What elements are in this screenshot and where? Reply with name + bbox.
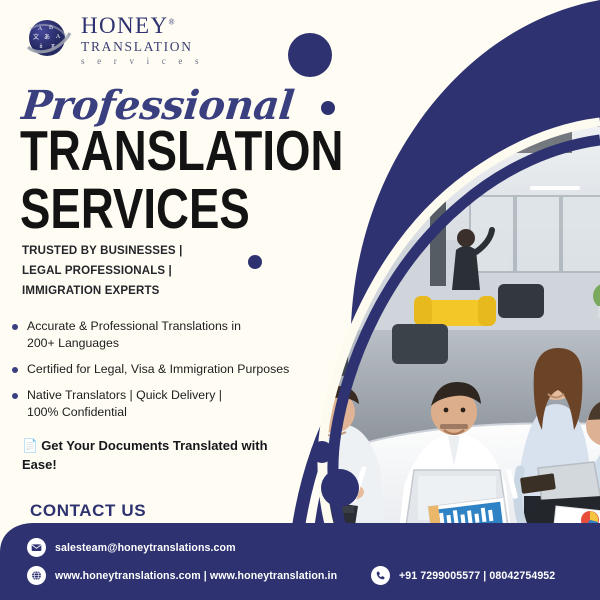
brand-logo[interactable]: A B 文 あ A ñ ह HONEY® TRANSLATION s e r v…: [26, 14, 204, 66]
laptop-center: [406, 470, 508, 526]
deco-circle-cta-a: [311, 441, 333, 463]
envelope-icon: [27, 538, 46, 557]
bullet-text: Accurate & Professional Translations in2…: [27, 318, 241, 352]
svg-text:ñ: ñ: [40, 44, 43, 50]
cta-text: 📄Get Your Documents Translated with Ease…: [22, 437, 302, 475]
bullet-dot: [12, 324, 18, 330]
globe-icon: [27, 566, 46, 585]
headline-line-1: TRANSLATION: [20, 125, 343, 177]
bullet-dot: [12, 393, 18, 399]
svg-text:A: A: [56, 34, 61, 40]
laptop-right: [534, 462, 600, 524]
list-item: Accurate & Professional Translations in2…: [12, 318, 312, 352]
person-standing-woman: [516, 348, 594, 542]
registered-mark: ®: [169, 17, 175, 26]
person-right: [584, 400, 600, 540]
svg-text:文: 文: [33, 33, 39, 41]
footer-phone[interactable]: +91 7299005577 | 08042754952: [371, 566, 555, 585]
trusted-by-block: TRUSTED BY BUSINESSES | LEGAL PROFESSION…: [22, 242, 182, 301]
background-person: [452, 229, 492, 290]
deco-circle-cta-b: [321, 469, 359, 507]
deco-circle-mid: [248, 255, 262, 269]
person-center: [398, 382, 512, 540]
headline-line-2: SERVICES: [20, 183, 250, 235]
bullet-text: Native Translators | Quick Delivery |100…: [27, 387, 222, 421]
office-chairs: [300, 284, 544, 376]
footer-phone-text: +91 7299005577 | 08042754952: [399, 570, 555, 582]
list-item: Certified for Legal, Visa & Immigration …: [12, 361, 312, 378]
feature-bullet-list: Accurate & Professional Translations in2…: [12, 318, 312, 430]
phone-icon: [371, 566, 390, 585]
deco-circle-small: [321, 101, 335, 115]
trusted-line-3: IMMIGRATION EXPERTS: [22, 282, 182, 302]
svg-text:あ: あ: [44, 34, 50, 41]
footer-email-text: salesteam@honeytranslations.com: [55, 542, 236, 554]
svg-text:A: A: [38, 26, 43, 32]
list-item: Native Translators | Quick Delivery |100…: [12, 387, 312, 421]
trusted-line-2: LEGAL PROFESSIONALS |: [22, 262, 182, 282]
trusted-line-1: TRUSTED BY BUSINESSES |: [22, 242, 182, 262]
deco-circle-large: [288, 33, 332, 77]
logo-brand-name: HONEY®: [81, 14, 204, 37]
logo-line-3: s e r v i c e s: [81, 57, 204, 66]
bullet-text: Certified for Legal, Visa & Immigration …: [27, 361, 289, 378]
logo-line-2: TRANSLATION: [81, 40, 204, 54]
yellow-sofa: [414, 296, 496, 326]
footer-email[interactable]: salesteam@honeytranslations.com: [27, 538, 236, 557]
footer-contact-bar: salesteam@honeytranslations.com www.ho: [0, 520, 600, 600]
photo-arc-stroke: [333, 140, 600, 536]
page-facing-up-icon: 📄: [22, 438, 38, 453]
contact-heading: CONTACT US: [30, 501, 146, 521]
globe-icon: A B 文 あ A ñ ह: [26, 17, 72, 63]
footer-website-text: www.honeytranslations.com | www.honeytra…: [55, 570, 337, 582]
bullet-dot: [12, 367, 18, 373]
navy-blob: [351, 0, 600, 372]
flyer-canvas: A B 文 あ A ñ ह HONEY® TRANSLATION s e r v…: [0, 0, 600, 600]
footer-website[interactable]: www.honeytranslations.com | www.honeytra…: [27, 566, 337, 585]
photo-rim: [322, 122, 600, 527]
